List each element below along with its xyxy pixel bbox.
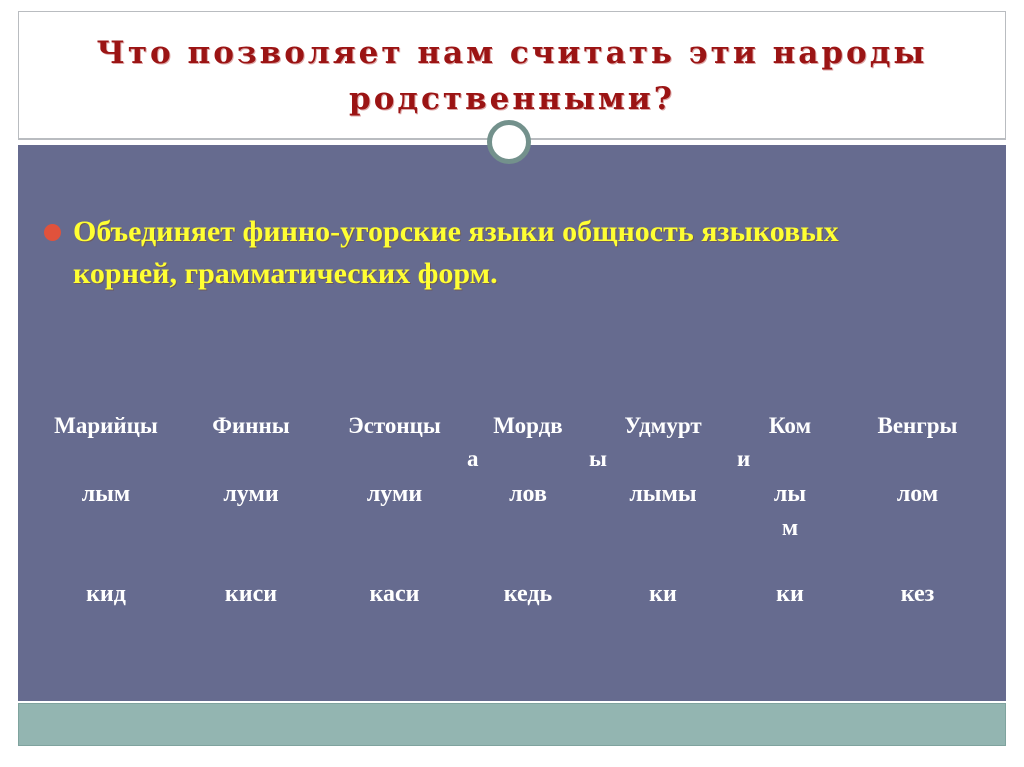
table-cell: лым xyxy=(32,477,180,577)
table-cell: ки xyxy=(737,577,843,637)
column-header-line1: Венгры xyxy=(843,409,992,442)
cell-line1: ки xyxy=(737,577,843,611)
column-header-line1: Мордв xyxy=(467,409,589,442)
column-header-line1: Финны xyxy=(180,409,322,442)
table-cell: луми xyxy=(180,477,322,577)
column-header-line1: Марийцы xyxy=(32,409,180,442)
table-cell: лы м xyxy=(737,477,843,577)
column-header-mariycy: Марийцы xyxy=(32,409,180,477)
cell-line1: ки xyxy=(589,577,737,611)
column-header-line1: Ком xyxy=(737,409,843,442)
slide-body-panel: Объединяет финно-угорские языки общность… xyxy=(18,145,1006,701)
bullet-text: Объединяет финно-угорские языки общность… xyxy=(73,211,944,295)
column-header-estoncy: Эстонцы xyxy=(322,409,467,477)
table-cell: лымы xyxy=(589,477,737,577)
column-header-mordva: Мордв а xyxy=(467,409,589,477)
cell-line1: лы xyxy=(737,477,843,511)
cell-line1: лымы xyxy=(589,477,737,511)
table-cell: киси xyxy=(180,577,322,637)
decorative-ring-icon xyxy=(487,120,531,164)
slide-title: Что позволяет нам считать эти народы род… xyxy=(19,30,1005,122)
cell-line2: м xyxy=(737,511,843,545)
column-header-komi: Ком и xyxy=(737,409,843,477)
column-header-line2: ы xyxy=(589,442,737,475)
cell-line1: лым xyxy=(32,477,180,511)
table-cell: кедь xyxy=(467,577,589,637)
cell-line1: каси xyxy=(322,577,467,611)
cell-line1: кедь xyxy=(467,577,589,611)
cell-line1: лов xyxy=(467,477,589,511)
table-header-row: Марийцы Финны Эстонцы Мордв а xyxy=(32,409,992,477)
table-cell: луми xyxy=(322,477,467,577)
bullet-item: Объединяет финно-угорские языки общность… xyxy=(44,211,944,295)
column-header-line2: а xyxy=(467,442,589,475)
cell-line1: киси xyxy=(180,577,322,611)
cell-line1: лом xyxy=(843,477,992,511)
bullet-dot-icon xyxy=(44,224,61,241)
column-header-finny: Финны xyxy=(180,409,322,477)
table-cell: ки xyxy=(589,577,737,637)
table-cell: лом xyxy=(843,477,992,577)
cell-line1: кез xyxy=(843,577,992,611)
table-row: лым луми луми лов xyxy=(32,477,992,577)
column-header-vengry: Венгры xyxy=(843,409,992,477)
table-cell: кез xyxy=(843,577,992,637)
slide-footer-bar xyxy=(18,703,1006,746)
cell-line1: луми xyxy=(322,477,467,511)
table-header: Марийцы Финны Эстонцы Мордв а xyxy=(32,409,992,477)
table-cell: лов xyxy=(467,477,589,577)
presentation-slide: Что позволяет нам считать эти народы род… xyxy=(0,0,1024,767)
table-body: лым луми луми лов xyxy=(32,477,992,637)
column-header-line1: Удмурт xyxy=(589,409,737,442)
table-cell: каси xyxy=(322,577,467,637)
table-row: кид киси каси кедь xyxy=(32,577,992,637)
cognate-word-table: Марийцы Финны Эстонцы Мордв а xyxy=(32,409,992,637)
cell-line1: кид xyxy=(32,577,180,611)
column-header-line1: Эстонцы xyxy=(322,409,467,442)
cell-line1: луми xyxy=(180,477,322,511)
table-cell: кид xyxy=(32,577,180,637)
column-header-udmurty: Удмурт ы xyxy=(589,409,737,477)
column-header-line2: и xyxy=(737,442,843,475)
